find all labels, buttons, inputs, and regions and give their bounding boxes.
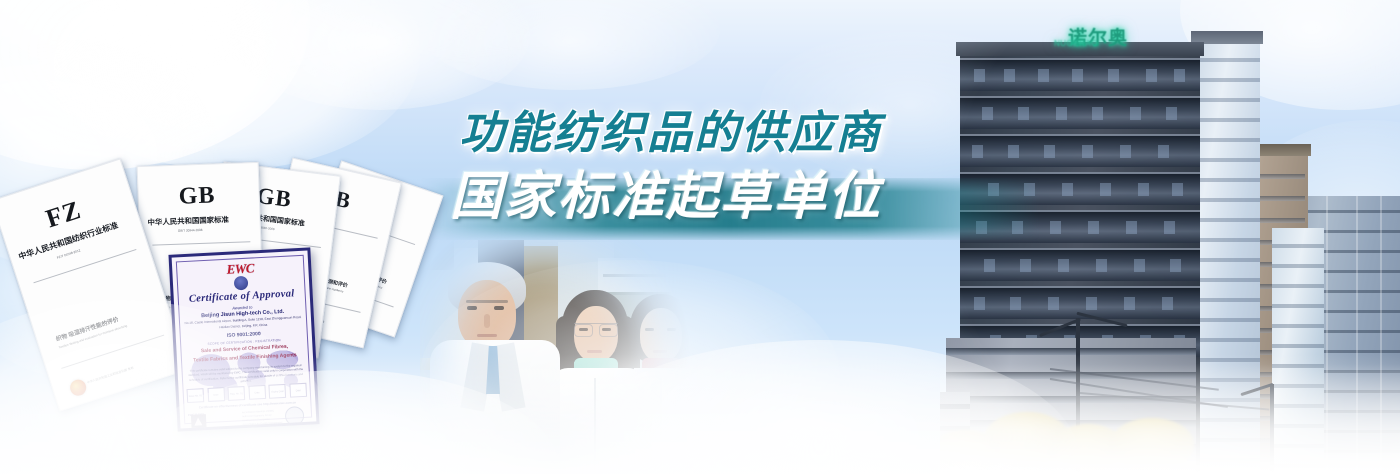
headline-line-2: 国家标准起草单位 xyxy=(450,164,882,230)
standard-logo: GB xyxy=(178,182,216,210)
rooftop-company-sign: 诺尔奥 NUOERAO xyxy=(1050,20,1146,52)
standard-code: GB/T 20944-2008 xyxy=(178,228,203,233)
cloud-top-left-4 xyxy=(230,0,530,110)
headline-line-1: 功能纺织品的供应商 xyxy=(459,104,882,162)
bottom-white-haze xyxy=(0,354,1400,474)
cloud-top-left-5 xyxy=(420,0,720,90)
standard-logo: GB xyxy=(255,183,293,213)
eyeglasses-icon xyxy=(574,323,618,335)
standard-title: 中华人民共和国国家标准 xyxy=(147,214,229,228)
rooftop-sign-subtext: NUOERAO xyxy=(1054,39,1098,48)
photo-corner-shade xyxy=(420,240,454,270)
standard-code: FZ/T 01048-2012 xyxy=(56,248,81,259)
company-hero-banner: 诺尔奥 NUOERAO 功能纺织品的供应商 国家标准起草单位 xyxy=(0,0,1400,474)
standard-logo: FZ xyxy=(42,195,85,234)
